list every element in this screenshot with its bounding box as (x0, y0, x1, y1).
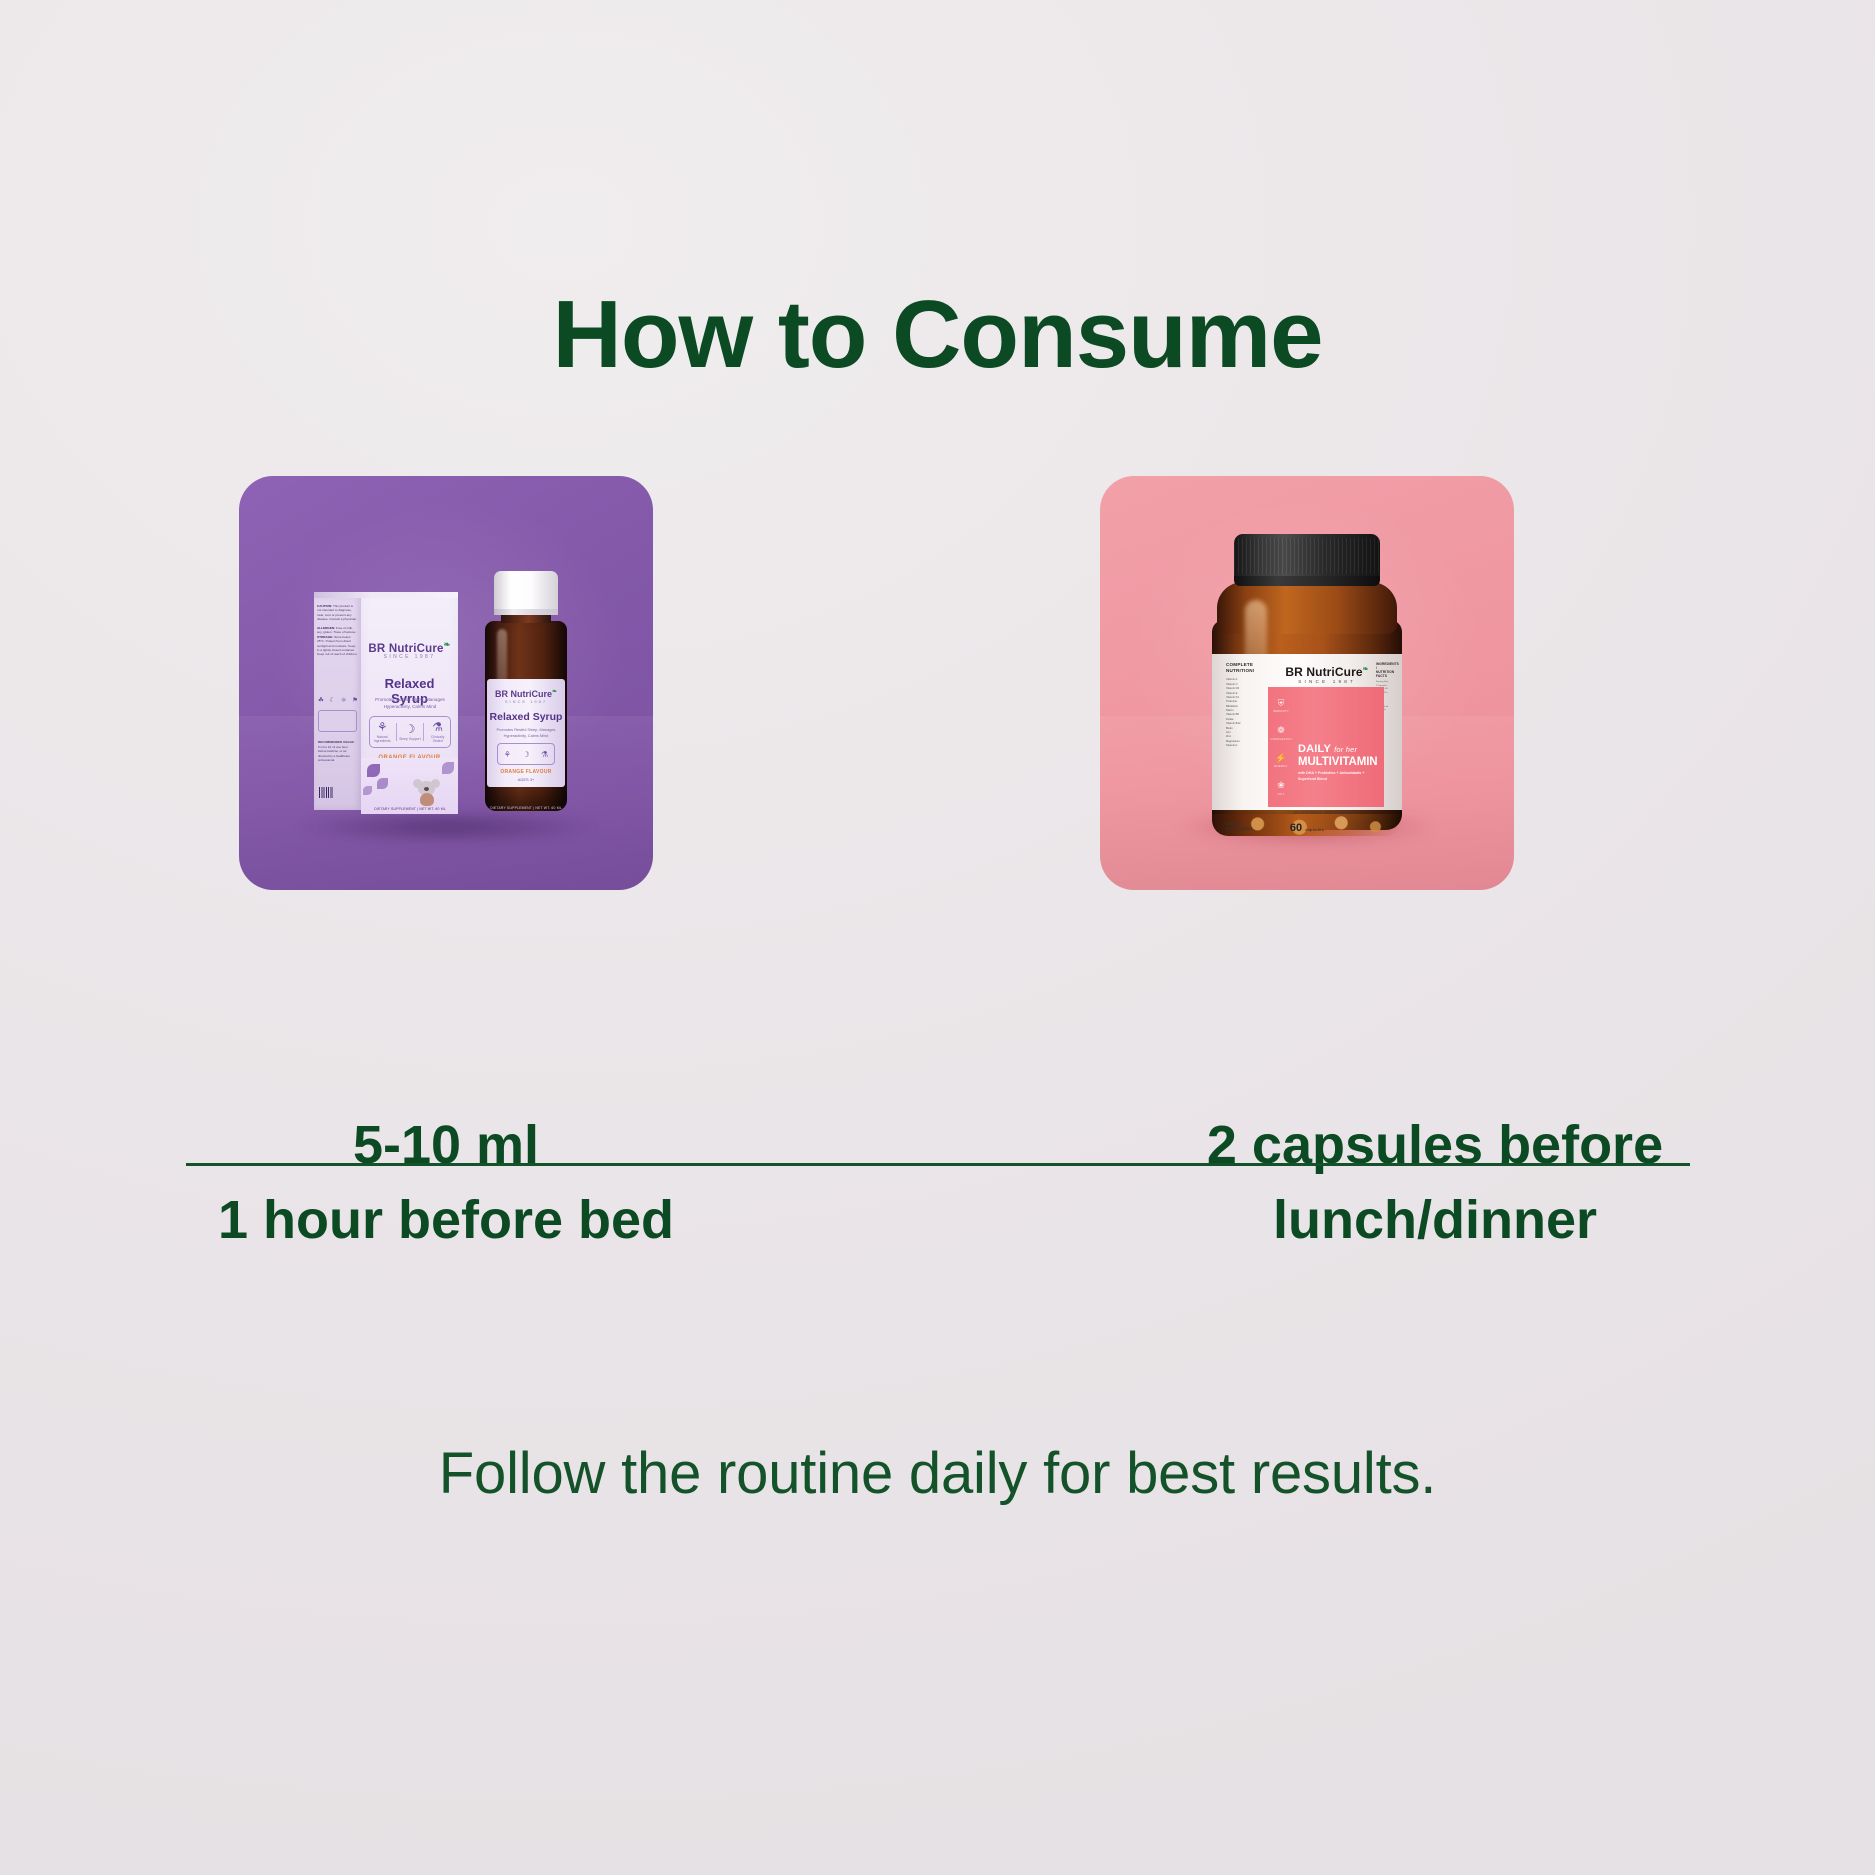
barcode-icon (319, 787, 333, 798)
page-title: How to Consume (0, 285, 1875, 386)
benefit-sleep: ☽ Sleep Support (399, 723, 421, 741)
gut-icon: ❀ (1277, 781, 1285, 790)
carton-tagline: Promotes Restful Sleep, Manages Hyperact… (365, 696, 455, 710)
flower-icon: ❁ (1270, 726, 1291, 735)
syrup-bottle: BR NutriCure❧ SINCE 1987 Relaxed Syrup P… (477, 571, 575, 815)
label-capsule-count: 60 capsules (1212, 822, 1402, 834)
benefit-icon-column: ⛨ IMMUNITY ❁ COMPLEXION ⚡ ENERGY (1268, 687, 1294, 807)
leaf-icon: ❧ (1363, 666, 1369, 673)
carton-brand: BR NutriCure❧ (365, 640, 454, 655)
label-flavour: ORANGE FLAVOUR (487, 769, 565, 775)
koala-mascot-icon (412, 778, 442, 808)
caption-relaxed-syrup: 5-10 ml 1 hour before bed (96, 1108, 796, 1257)
divider (396, 723, 397, 741)
product-card-daily-multivitamin[interactable]: BR NutriCure❧ SINCE 1987 COMPLETE NUTRIT… (1100, 476, 1514, 890)
label-pink-panel: ⛨ IMMUNITY ❁ COMPLEXION ⚡ ENERGY (1268, 687, 1384, 807)
divider (423, 723, 424, 741)
leaf-icon: ❧ (444, 640, 451, 649)
benefit-label: COMPLEXION (1270, 737, 1291, 741)
benefit-complexion: ❁ COMPLEXION (1270, 726, 1291, 741)
left-column-heading: COMPLETE NUTRITION! (1226, 662, 1264, 673)
carton-benefit-icons: ⚘ Natural Ingredients ☽ Sleep Support ⚗ … (369, 716, 451, 748)
bottle-cap (1234, 534, 1380, 580)
benefit-label: Natural Ingredients (371, 735, 393, 743)
label-title-multivitamin: MULTIVITAMIN (1298, 756, 1384, 768)
bottle-label: BR NutriCure❧ SINCE 1987 COMPLETE NUTRIT… (1212, 654, 1402, 810)
carton-side-caution: CAUTION: This product is not intended to… (317, 604, 358, 657)
moon-benefit-icon: ☽ (399, 723, 421, 735)
benefit-gut: ❀ GUT (1277, 781, 1285, 796)
bottle-bottom-text: DIETARY SUPPLEMENT | NET WT. 60 ML (489, 806, 563, 810)
poster-root: How to Consume BR NutriCure❧ SINCE 1987 (0, 0, 1875, 1875)
leaf-benefit-icon: ⚘ (371, 721, 393, 733)
benefit-clinical: ⚗ Clinically Tested (427, 721, 449, 743)
moon-benefit-icon: ☽ (522, 750, 529, 759)
label-since: SINCE 1987 (487, 699, 565, 704)
leaf-benefit-icon: ⚘ (504, 750, 511, 759)
caption-line-2: 1 hour before bed (96, 1183, 796, 1258)
carton-side-dosage: RECOMMENDED USAGE: 5 ml to 10 ml one hou… (318, 740, 357, 763)
left-column-lines: Vitamin A Vitamin C Vitamin D3 Vitamin E… (1226, 678, 1264, 748)
product-cards-row: BR NutriCure❧ SINCE 1987 Relaxed Syrup P… (0, 476, 1875, 896)
icon-a: ☘ (318, 696, 324, 704)
capsule-unit: capsules (1305, 827, 1324, 832)
syrup-carton: BR NutriCure❧ SINCE 1987 Relaxed Syrup P… (314, 592, 458, 814)
benefit-label: Clinically Tested (427, 735, 449, 743)
product-card-relaxed-syrup[interactable]: BR NutriCure❧ SINCE 1987 Relaxed Syrup P… (239, 476, 653, 890)
label-since: SINCE 1987 (1272, 679, 1382, 684)
caption-daily-multivitamin: 2 capsules before lunch/dinner (1085, 1108, 1785, 1257)
label-brand: BR NutriCure❧ (487, 688, 565, 699)
flask-benefit-icon: ⚗ (427, 721, 449, 733)
cap-lip (1234, 576, 1380, 586)
benefit-energy: ⚡ ENERGY (1274, 754, 1287, 769)
carton-side-icon-row: ☘ ☾ ⚛ ⚑ (318, 696, 358, 704)
leaf-icon: ❧ (552, 689, 557, 695)
label-tagline: Promotes Restful Sleep, Manages Hyperact… (491, 727, 561, 739)
label-left-column: COMPLETE NUTRITION! Vitamin A Vitamin C … (1226, 662, 1264, 802)
label-title-daily: DAILY for her (1298, 743, 1382, 755)
label-benefit-icons: ⚘ ☽ ⚗ (497, 743, 555, 765)
benefit-immunity: ⛨ IMMUNITY (1273, 699, 1289, 714)
allergen-heading: ALLERGEN: (317, 626, 335, 630)
label-vitamin-count: 33 VITAMINS AND MINERALS (1268, 810, 1384, 815)
shield-icon: ⛨ (1273, 699, 1289, 708)
right-column-heading: INGREDIENTS / NUTRITION FACTS (1376, 662, 1396, 678)
section-divider (186, 1163, 1690, 1166)
relaxed-syrup-product-image: BR NutriCure❧ SINCE 1987 Relaxed Syrup P… (239, 476, 653, 890)
label-brand: BR NutriCure❧ (1272, 665, 1382, 679)
caution-heading: CAUTION: (317, 604, 332, 608)
multivitamin-product-image: BR NutriCure❧ SINCE 1987 COMPLETE NUTRIT… (1100, 476, 1514, 890)
icon-b: ☾ (329, 696, 335, 704)
cap-ridges (1234, 538, 1380, 574)
benefit-label: GUT (1277, 792, 1285, 796)
label-product-name: Relaxed Syrup (487, 711, 565, 723)
bottle-cap (494, 571, 558, 615)
carton-since: SINCE 1987 (365, 654, 454, 660)
carton-side-panel (318, 710, 357, 732)
flask-benefit-icon: ⚗ (541, 750, 548, 759)
dosage-text: 5 ml to 10 ml one hour before bedtime, o… (318, 745, 350, 763)
caption-line-1: 5-10 ml (96, 1108, 796, 1183)
caption-line-2: lunch/dinner (1085, 1183, 1785, 1258)
bottle-shoulder (1217, 582, 1397, 634)
multivitamin-bottle: BR NutriCure❧ SINCE 1987 COMPLETE NUTRIT… (1203, 534, 1411, 836)
bolt-icon: ⚡ (1274, 754, 1287, 763)
storage-heading: STORAGE: (317, 635, 333, 639)
carton-bottom-text: DIETARY SUPPLEMENT | NET WT. 60 ML (364, 807, 456, 811)
footer-note: Follow the routine daily for best result… (0, 1440, 1875, 1507)
caption-line-1: 2 capsules before (1085, 1108, 1785, 1183)
benefit-label: Sleep Support (399, 737, 421, 741)
benefit-label: ENERGY (1274, 764, 1287, 768)
icon-c: ⚛ (341, 696, 347, 704)
carton-top-edge (314, 592, 458, 598)
product-ground-shadow (297, 810, 597, 844)
icon-d: ⚑ (352, 696, 358, 704)
carton-artwork (361, 758, 458, 814)
dosage-heading: RECOMMENDED USAGE: (318, 740, 355, 744)
benefit-natural: ⚘ Natural Ingredients (371, 721, 393, 743)
label-ages: AGES 3+ (487, 777, 565, 782)
label-title-italic: for her (1334, 745, 1357, 754)
benefit-label: IMMUNITY (1273, 709, 1289, 713)
bottle-label: BR NutriCure❧ SINCE 1987 Relaxed Syrup P… (487, 679, 565, 787)
label-subtitle: with DHA + Probiotics + Antioxidants + S… (1298, 771, 1382, 783)
